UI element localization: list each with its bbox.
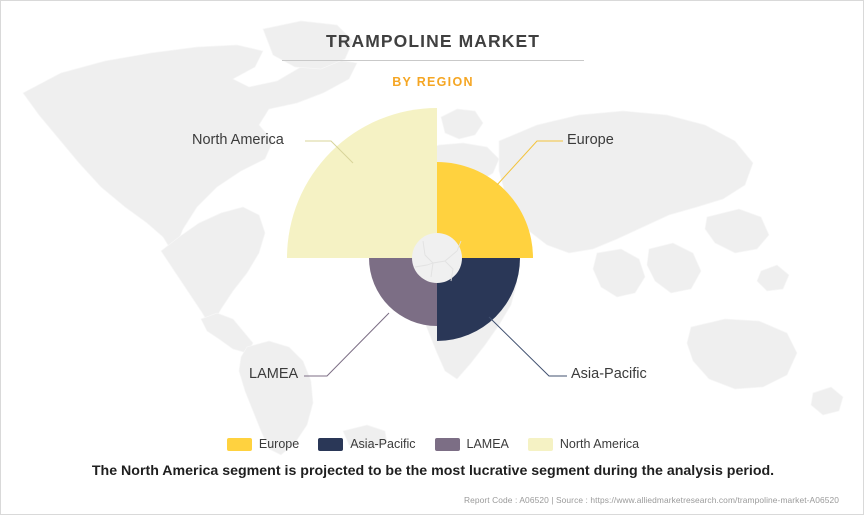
report-source-line: Report Code : A06520 | Source : https://… [464, 495, 839, 505]
leader-line-asia-pacific [489, 317, 567, 376]
legend-swatch-north-america [528, 438, 553, 451]
legend-item-europe[interactable]: Europe [227, 437, 299, 451]
legend-label-lamea: LAMEA [467, 437, 509, 451]
legend-item-asia-pacific[interactable]: Asia-Pacific [318, 437, 415, 451]
slice-label-north-america: North America [192, 132, 284, 148]
infographic-canvas: TRAMPOLINE MARKET BY REGION North Americ… [0, 0, 864, 515]
legend-item-north-america[interactable]: North America [528, 437, 639, 451]
slice-north-america[interactable] [287, 108, 437, 258]
polar-area-rose-chart [1, 1, 864, 471]
legend-swatch-europe [227, 438, 252, 451]
legend-swatch-lamea [435, 438, 460, 451]
legend-label-north-america: North America [560, 437, 639, 451]
legend-label-europe: Europe [259, 437, 299, 451]
legend-item-lamea[interactable]: LAMEA [435, 437, 509, 451]
leader-line-europe [497, 141, 563, 185]
legend-label-asia-pacific: Asia-Pacific [350, 437, 415, 451]
legend-swatch-asia-pacific [318, 438, 343, 451]
key-takeaway-text: The North America segment is projected t… [1, 463, 864, 479]
slice-label-lamea: LAMEA [249, 366, 298, 382]
chart-center-hub [412, 233, 462, 283]
slice-label-europe: Europe [567, 132, 614, 148]
chart-legend: Europe Asia-Pacific LAMEA North America [1, 437, 864, 451]
slice-label-asia-pacific: Asia-Pacific [571, 366, 647, 382]
leader-line-lamea [304, 313, 389, 376]
